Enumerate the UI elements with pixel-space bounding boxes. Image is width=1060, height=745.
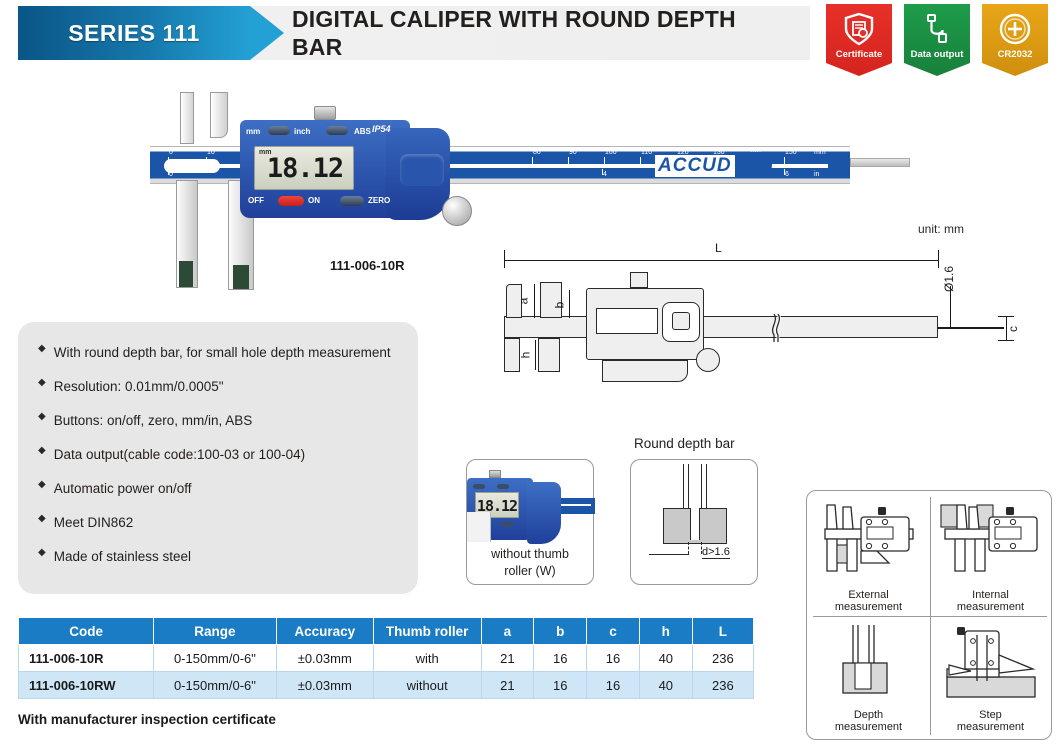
dim-label-diameter: Ø1.6	[942, 266, 956, 292]
bullet-icon: ◆	[38, 510, 46, 528]
feature-item: ◆ Meet DIN862	[38, 510, 402, 535]
scale-tick: 10	[207, 149, 215, 156]
drawing-thumb-roller	[696, 348, 720, 372]
dim-label-b: b	[552, 302, 566, 309]
cell-roller: with	[373, 645, 481, 672]
features-panel: ◆ With round depth bar, for small hole d…	[18, 322, 418, 594]
badge-label: CR2032	[998, 49, 1033, 60]
panel-without-thumb-roller: 18.12 without thumb roller (W)	[466, 459, 594, 585]
cell-L: 236	[692, 645, 753, 672]
feature-item: ◆ Resolution: 0.01mm/0.0005"	[38, 374, 402, 399]
internal-measurement-icon	[937, 501, 1041, 583]
drawing-lower-jaw-right	[538, 338, 560, 372]
certificate-shield-icon	[842, 11, 876, 47]
drawing-screw	[630, 272, 648, 288]
round-depth-bar-title: Round depth bar	[634, 436, 735, 451]
cell-c: 16	[587, 672, 640, 699]
col-header-code: Code	[19, 618, 154, 645]
cell-L: 236	[692, 672, 753, 699]
workpiece-hole	[690, 508, 700, 540]
scale-tick: 150	[785, 149, 797, 156]
cell-roller: without	[373, 672, 481, 699]
caliper-upper-jaw-right	[210, 92, 228, 138]
feature-text: Buttons: on/off, zero, mm/in, ABS	[54, 408, 253, 433]
drawing-depth-rod	[938, 327, 1004, 329]
col-header-b: b	[534, 618, 587, 645]
drawing-upper-jaw-right	[540, 282, 562, 318]
cell-b: 16	[534, 645, 587, 672]
page-title: DIGITAL CALIPER WITH ROUND DEPTH BAR	[292, 5, 762, 61]
usb-cable-icon	[920, 11, 954, 47]
series-arrow-icon	[250, 6, 284, 60]
badge-battery: CR2032	[982, 4, 1048, 76]
coin-battery-icon	[997, 11, 1033, 47]
col-header-L: L	[692, 618, 753, 645]
mm-button-label: mm	[246, 127, 260, 136]
bullet-icon: ◆	[38, 374, 46, 392]
drawing-grip-inner	[672, 312, 690, 330]
dim-ext-c-top	[998, 316, 1014, 317]
cell-a: 21	[481, 645, 534, 672]
cell-h: 40	[639, 672, 692, 699]
depth-measurement-label-l2: measurement	[811, 721, 926, 734]
zero-button[interactable]	[340, 196, 364, 206]
cell-range: 0-150mm/0-6"	[154, 672, 277, 699]
feature-text: Made of stainless steel	[54, 544, 191, 569]
break-symbol-icon	[768, 314, 784, 342]
locking-screw	[314, 106, 336, 120]
series-label: SERIES 111	[68, 20, 200, 47]
on-off-button[interactable]	[278, 196, 304, 206]
hole-dim-arrow	[649, 554, 689, 555]
dim-line-b	[569, 290, 570, 318]
col-header-c: c	[587, 618, 640, 645]
specification-table: Code Range Accuracy Thumb roller a b c h…	[18, 617, 754, 699]
feature-text: With round depth bar, for small hole dep…	[54, 340, 391, 365]
mm-button[interactable]	[268, 126, 290, 135]
table-header-row: Code Range Accuracy Thumb roller a b c h…	[19, 618, 754, 645]
feature-item: ◆ Automatic power on/off	[38, 476, 402, 501]
mini-screw	[489, 470, 501, 478]
panel-caption-line1: without thumb	[467, 546, 593, 563]
cell-a: 21	[481, 672, 534, 699]
technical-drawing: L a b h Ø1.6 c	[490, 228, 1050, 368]
badge-label: Data output	[911, 49, 964, 60]
cell-c: 16	[587, 645, 640, 672]
drawing-head-skirt	[602, 360, 688, 382]
col-header-accuracy: Accuracy	[276, 618, 373, 645]
hole-ext-left	[688, 542, 689, 554]
table-footnote: With manufacturer inspection certificate	[18, 712, 276, 727]
brand-pill	[730, 152, 772, 178]
mini-mm-button	[473, 484, 485, 489]
feature-text: Resolution: 0.01mm/0.0005"	[54, 374, 224, 399]
thumb-grip-inner	[400, 154, 444, 186]
page-header: SERIES 111 DIGITAL CALIPER WITH ROUND DE…	[0, 0, 1060, 78]
feature-badges: Certificate Data output	[826, 4, 1048, 76]
dim-ext-c-bottom	[998, 340, 1014, 341]
depth-bar-rod	[850, 158, 910, 167]
dim-label-a: a	[516, 298, 530, 305]
feature-item: ◆ Made of stainless steel	[38, 544, 402, 569]
dim-label-c: c	[1006, 326, 1020, 332]
badge-label: Certificate	[836, 49, 882, 60]
scale-tick: 80	[533, 149, 541, 156]
cell-accuracy: ±0.03mm	[276, 672, 373, 699]
scale-tick-inch: 0	[169, 171, 173, 178]
dim-line-h	[535, 340, 536, 370]
mini-zero-button	[501, 522, 513, 527]
feature-item: ◆ Buttons: on/off, zero, mm/in, ABS	[38, 408, 402, 433]
step-measurement-icon	[937, 625, 1043, 701]
mini-jaw	[467, 512, 491, 542]
bullet-icon: ◆	[38, 442, 46, 460]
panel-caption-line2: roller (W)	[467, 563, 593, 580]
col-header-range: Range	[154, 618, 277, 645]
dim-line-a	[534, 284, 535, 318]
feature-text: Automatic power on/off	[54, 476, 192, 501]
inch-button-label: inch	[294, 127, 310, 136]
cell-accuracy: ±0.03mm	[276, 645, 373, 672]
scale-unit-mm: mm	[814, 149, 826, 156]
internal-measurement-label-l2: measurement	[933, 601, 1048, 614]
col-header-a: a	[481, 618, 534, 645]
depth-measurement-icon	[831, 625, 911, 701]
lcd-display: mm 18.12	[254, 146, 354, 190]
quad-divider-horizontal	[813, 616, 1047, 617]
col-header-thumb-roller: Thumb roller	[373, 618, 481, 645]
mini-inch-button	[497, 484, 509, 489]
col-header-h: h	[639, 618, 692, 645]
scale-unit-inch: in	[814, 171, 819, 178]
bullet-icon: ◆	[38, 408, 46, 426]
feature-item: ◆ With round depth bar, for small hole d…	[38, 340, 402, 365]
ip-rating-label: IP54	[372, 124, 391, 134]
table-row: 111-006-10RW 0-150mm/0-6" ±0.03mm withou…	[19, 672, 754, 699]
mini-head-grip	[527, 482, 561, 544]
on-label: ON	[308, 196, 320, 205]
badge-data-output: Data output	[904, 4, 970, 76]
bullet-icon: ◆	[38, 476, 46, 494]
scale-tick-inch: 6	[785, 171, 789, 178]
lcd-value: 18.12	[255, 153, 355, 184]
scale-tick: 90	[569, 149, 577, 156]
caliper-lower-jaw-left	[176, 180, 198, 288]
external-measurement-label-l2: measurement	[811, 601, 926, 614]
off-label: OFF	[248, 196, 264, 205]
cell-h: 40	[639, 645, 692, 672]
feature-text: Data output(cable code:100-03 or 100-04)	[54, 442, 305, 467]
scale-tick: 100	[605, 149, 617, 156]
cell-code: 111-006-10R	[19, 645, 154, 672]
bullet-icon: ◆	[38, 340, 46, 358]
dim-ext-L-left	[504, 250, 505, 268]
zero-label: ZERO	[368, 196, 390, 205]
feature-text: Meet DIN862	[54, 510, 134, 535]
drawing-beam	[504, 316, 938, 338]
scale-tick: 0	[169, 149, 173, 156]
cell-range: 0-150mm/0-6"	[154, 645, 277, 672]
hole-dim-label: d>1.6	[702, 546, 730, 559]
scale-tick: 110	[641, 149, 652, 156]
drawing-lcd	[596, 308, 658, 334]
series-badge: SERIES 111	[18, 6, 250, 60]
dim-line-L	[504, 260, 938, 261]
caliper-upper-jaw-left	[180, 92, 194, 144]
table-row: 111-006-10R 0-150mm/0-6" ±0.03mm with 21…	[19, 645, 754, 672]
dim-label-L: L	[715, 241, 722, 255]
external-measurement-icon	[817, 501, 921, 583]
model-caption: 111-006-10R	[330, 258, 404, 273]
panel-measurement-types: External measurement Internal measuremen…	[806, 490, 1052, 740]
bullet-icon: ◆	[38, 544, 46, 562]
dim-leader-diameter	[950, 286, 951, 328]
step-measurement-label-l2: measurement	[933, 721, 1048, 734]
cell-code: 111-006-10RW	[19, 672, 154, 699]
inch-button[interactable]	[326, 126, 348, 135]
brand-logo: ACCUD	[655, 155, 735, 177]
cell-b: 16	[534, 672, 587, 699]
dim-ext-L-right	[938, 250, 939, 268]
badge-certificate: Certificate	[826, 4, 892, 76]
abs-button-label: ABS	[354, 127, 371, 136]
panel-round-depth-bar: d>1.6	[630, 459, 758, 585]
thumb-roller	[442, 196, 472, 226]
scale-tick-inch: 4	[603, 171, 607, 178]
feature-item: ◆ Data output(cable code:100-03 or 100-0…	[38, 442, 402, 467]
dim-label-h: h	[518, 352, 532, 359]
